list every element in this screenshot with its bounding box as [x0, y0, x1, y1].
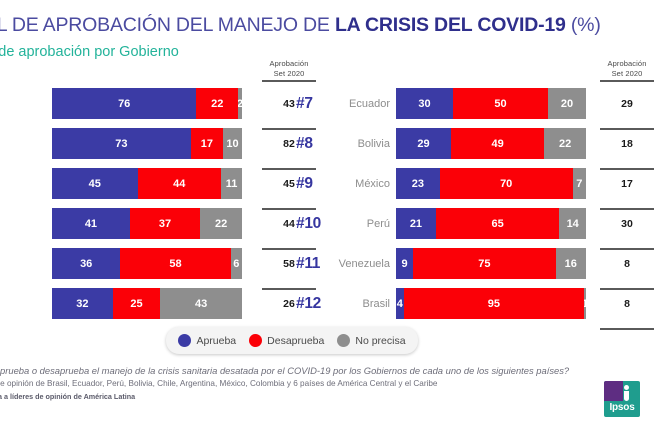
approval-value: 8: [596, 258, 658, 270]
ipsos-logo: Ipsos: [604, 381, 640, 417]
column-divider: [600, 80, 654, 82]
legend-label: Aprueba: [196, 335, 236, 347]
approval-value: 29: [596, 98, 658, 110]
country-label: Venezuela: [326, 258, 390, 270]
approval-value: 8: [596, 298, 658, 310]
rank-label: #11: [296, 255, 320, 273]
rank-label: #8: [296, 135, 313, 153]
stacked-bar: 413722: [52, 208, 242, 239]
stacked-bar: 216514: [396, 208, 586, 239]
bar-segment-no precisa: 10: [223, 128, 242, 159]
country-label: Brasil: [326, 298, 390, 310]
bar-segment-aprueba: 21: [396, 208, 436, 239]
rank-label: #12: [296, 295, 321, 313]
approval-header-line2: Set 2020: [596, 69, 658, 79]
bar-segment-desaprueba: 22: [196, 88, 238, 119]
bar-segment-no precisa: 1: [584, 288, 586, 319]
bar-segment-desaprueba: 50: [453, 88, 548, 119]
bar-segment-desaprueba: 44: [138, 168, 222, 199]
bar-segment-desaprueba: 25: [113, 288, 161, 319]
legend-swatch-icon: [337, 334, 350, 347]
bar-segment-aprueba: 32: [52, 288, 113, 319]
approval-value: 30: [596, 218, 658, 230]
footnote-source: Encuesta a líderes de opinión de América…: [0, 392, 135, 401]
bar-segment-aprueba: 9: [396, 248, 413, 279]
logo-dot: [624, 385, 629, 390]
stacked-bar: 322543: [52, 288, 242, 319]
legend-item: Desaprueba: [249, 334, 324, 347]
legend-item: Aprueba: [178, 334, 236, 347]
column-divider: [600, 328, 654, 330]
approval-value: 18: [596, 138, 658, 150]
column-divider: [600, 128, 654, 130]
bar-segment-desaprueba: 65: [436, 208, 560, 239]
bar-segment-aprueba: 30: [396, 88, 453, 119]
approval-column-header: AprobaciónSet 2020: [596, 59, 658, 79]
stacked-bar: 36586: [52, 248, 242, 279]
bar-segment-no precisa: 11: [221, 168, 242, 199]
stacked-bar: 76222: [52, 88, 242, 119]
bar-segment-desaprueba: 75: [413, 248, 556, 279]
stacked-bar: 23707: [396, 168, 586, 199]
footnote-sample: Líderes de opinión de Brasil, Ecuador, P…: [0, 379, 437, 388]
bar-segment-desaprueba: 70: [440, 168, 573, 199]
bar-segment-aprueba: 29: [396, 128, 451, 159]
legend-label: Desaprueba: [267, 335, 324, 347]
stacked-bar: 97516: [396, 248, 586, 279]
rank-label: #10: [296, 215, 321, 233]
logo-stem: [624, 391, 629, 401]
bar-segment-aprueba: 73: [52, 128, 191, 159]
stacked-bar: 305020: [396, 88, 586, 119]
column-divider: [600, 208, 654, 210]
stacked-bar: 4951: [396, 288, 586, 319]
legend-swatch-icon: [249, 334, 262, 347]
bar-segment-desaprueba: 17: [191, 128, 223, 159]
bar-segment-aprueba: 76: [52, 88, 196, 119]
bar-segment-no precisa: 43: [160, 288, 242, 319]
rank-label: #7: [296, 95, 313, 113]
country-label: México: [326, 178, 390, 190]
chart-panel-left: AprobaciónSet 2020#17622243#273171082#34…: [0, 0, 300, 425]
footnote-question: ¿Usted aprueba o desaprueba el manejo de…: [0, 365, 569, 376]
legend-item: No precisa: [337, 334, 405, 347]
bar-segment-no precisa: 22: [200, 208, 242, 239]
column-divider: [600, 248, 654, 250]
stacked-bar: 454411: [52, 168, 242, 199]
column-divider: [600, 288, 654, 290]
bar-segment-no precisa: 20: [548, 88, 586, 119]
bar-segment-desaprueba: 95: [404, 288, 585, 319]
stacked-bar: 731710: [52, 128, 242, 159]
chart-panel-right: AprobaciónSet 2020#7Ecuador30502029#8Bol…: [290, 0, 658, 425]
bar-segment-no precisa: 22: [544, 128, 586, 159]
country-label: Bolivia: [326, 138, 390, 150]
country-label: Perú: [326, 218, 390, 230]
country-label: Ecuador: [326, 98, 390, 110]
logo-square: [604, 381, 623, 401]
bar-segment-no precisa: 6: [231, 248, 242, 279]
rank-label: #9: [296, 175, 313, 193]
approval-value: 17: [596, 178, 658, 190]
bar-segment-aprueba: 23: [396, 168, 440, 199]
bar-segment-desaprueba: 37: [130, 208, 200, 239]
bar-segment-desaprueba: 49: [451, 128, 544, 159]
approval-header-line1: Aprobación: [596, 59, 658, 69]
bar-segment-no precisa: 14: [559, 208, 586, 239]
bar-segment-no precisa: 16: [556, 248, 586, 279]
bar-segment-no precisa: 7: [573, 168, 586, 199]
bar-segment-aprueba: 45: [52, 168, 138, 199]
stacked-bar: 294922: [396, 128, 586, 159]
bar-segment-desaprueba: 58: [120, 248, 230, 279]
logo-wordmark: Ipsos: [604, 402, 640, 413]
bar-segment-aprueba: 41: [52, 208, 130, 239]
column-divider: [600, 168, 654, 170]
bar-segment-no precisa: 2: [238, 88, 242, 119]
bar-segment-aprueba: 4: [396, 288, 404, 319]
bar-segment-aprueba: 36: [52, 248, 120, 279]
legend-swatch-icon: [178, 334, 191, 347]
legend-label: No precisa: [355, 335, 405, 347]
chart-legend: ApruebaDesapruebaNo precisa: [166, 327, 418, 354]
